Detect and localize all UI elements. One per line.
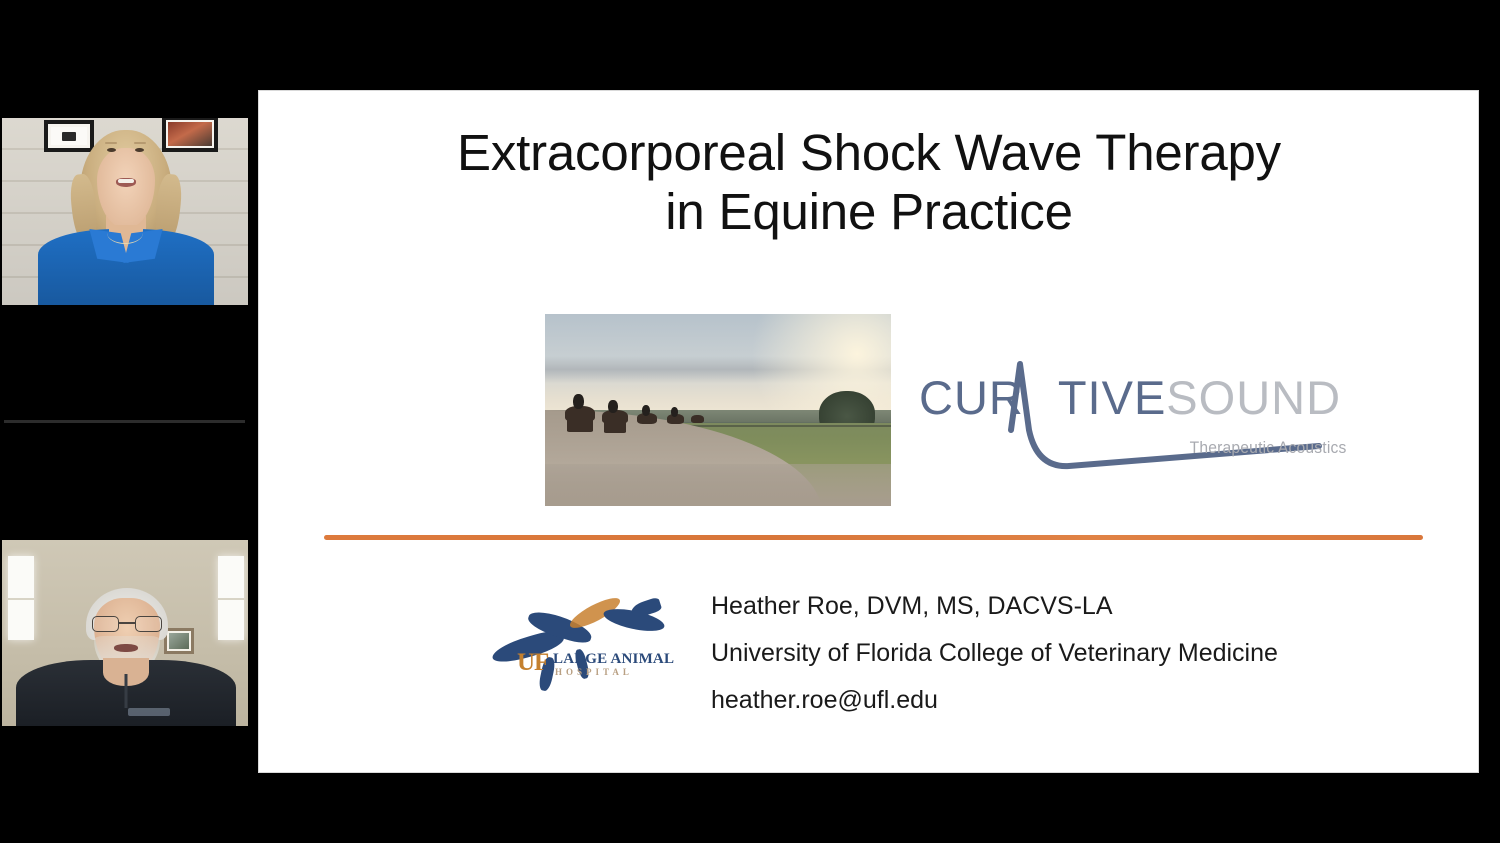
participant-1-eye-left <box>107 148 116 152</box>
rider-1 <box>573 394 584 409</box>
horses-training-on-track-photo <box>545 314 891 506</box>
participant-2-shirt-logo <box>128 708 170 716</box>
meeting-stage: Extracorporeal Shock Wave Therapy in Equ… <box>0 0 1500 843</box>
shock-wave-mark-icon <box>919 346 1349 486</box>
horse-2-legs <box>604 421 626 433</box>
participant-2-video-feed <box>2 540 248 726</box>
uf-logo-line-1: LARGE ANIMAL <box>553 651 674 668</box>
rider-4 <box>671 407 678 417</box>
participant-1-eyebrow-right <box>134 142 146 144</box>
slide-divider-rule <box>324 535 1423 540</box>
participant-2-shirt-placket <box>125 674 128 708</box>
uf-logo-line-2: HOSPITAL <box>555 667 633 677</box>
participant-1-person <box>2 118 248 305</box>
curativesound-tagline: Therapeutic Acoustics <box>1190 438 1347 458</box>
participant-2-mouth <box>114 644 138 652</box>
presenter-email[interactable]: heather.roe@ufl.edu <box>711 677 1451 724</box>
wall-picture-frame <box>164 628 194 654</box>
participant-video-tile-2[interactable] <box>2 540 248 726</box>
curativesound-logo: CURTIVESOUND Therapeutic Acoustics <box>919 346 1349 486</box>
participant-1-eye-right <box>135 148 144 152</box>
participant-1-video-feed <box>2 118 248 305</box>
participant-video-tile-1[interactable] <box>2 118 248 305</box>
window-right <box>218 556 244 640</box>
uf-initials: UF <box>517 649 548 677</box>
participant-1-mouth <box>116 178 136 187</box>
uf-large-animal-hospital-logo: UF LARGE ANIMAL HOSPITAL <box>481 591 696 691</box>
participant-1-necklace <box>107 222 143 244</box>
eyeglasses-icon <box>92 616 162 632</box>
presenter-affiliation: University of Florida College of Veterin… <box>711 630 1451 677</box>
presenter-name-credentials: Heather Roe, DVM, MS, DACVS-LA <box>711 583 1451 630</box>
rider-2 <box>608 400 618 413</box>
horse-5 <box>691 415 704 423</box>
slide-title-line-1: Extracorporeal Shock Wave Therapy <box>319 123 1419 182</box>
participant-2-shirt <box>16 660 236 726</box>
window-left <box>8 556 34 640</box>
slide-title: Extracorporeal Shock Wave Therapy in Equ… <box>319 123 1419 241</box>
shared-slide[interactable]: Extracorporeal Shock Wave Therapy in Equ… <box>259 91 1478 772</box>
participant-1-eyebrow-left <box>105 142 117 144</box>
participant-video-strip <box>0 0 250 843</box>
slide-title-line-2: in Equine Practice <box>319 182 1419 241</box>
rider-3 <box>642 405 650 416</box>
participant-tile-divider <box>4 420 245 423</box>
photo-track-foreground <box>545 464 891 506</box>
horse-1-legs <box>567 418 593 432</box>
presenter-block: Heather Roe, DVM, MS, DACVS-LA Universit… <box>711 583 1451 724</box>
